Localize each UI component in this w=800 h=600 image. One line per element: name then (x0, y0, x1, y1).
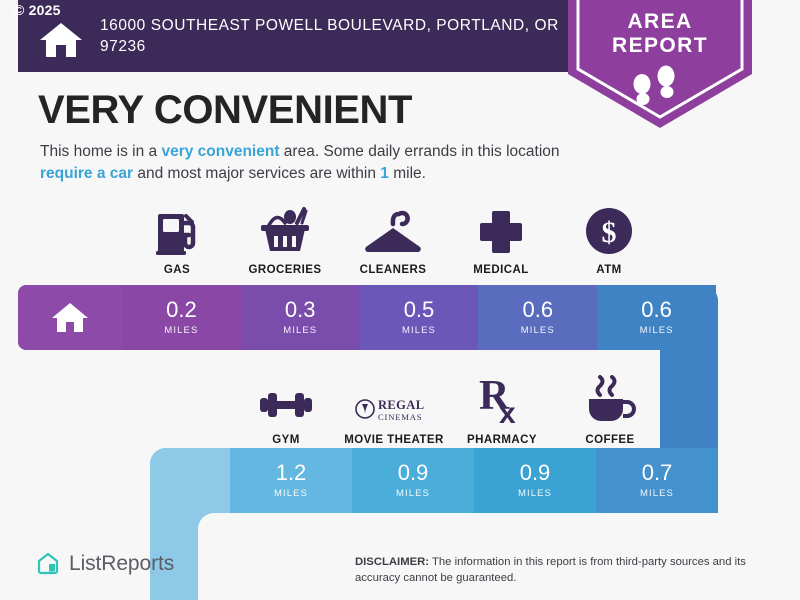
distance-unit: MILES (274, 488, 308, 499)
svg-text:x: x (499, 397, 516, 425)
home-origin-cell (18, 285, 122, 350)
icon-cell-groceries: GROCERIES (231, 205, 339, 276)
rx-icon: R x (477, 375, 527, 425)
desc-highlight-1: very convenient (161, 143, 279, 160)
distance-bar-row-2: 1.2 MILES 0.9 MILES 0.9 MILES 0.7 MILES (150, 448, 718, 513)
distance-cell-pharmacy: 0.9 MILES (474, 448, 596, 513)
svg-text:CINEMAS: CINEMAS (378, 412, 422, 422)
desc-part-3: and most major services are within (133, 165, 380, 182)
listreports-wordmark: ListReports (69, 552, 174, 576)
property-address: 16000 SOUTHEAST POWELL BOULEVARD, PORTLA… (100, 15, 560, 58)
desc-highlight-3: 1 (380, 165, 389, 182)
distance-cell-coffee: 0.7 MILES (596, 448, 718, 513)
listreports-logo[interactable]: ListReports (36, 551, 174, 577)
gas-pump-icon (155, 205, 199, 255)
desc-part-2: area. Some daily errands in this locatio… (280, 143, 560, 160)
distance-unit: MILES (164, 325, 198, 336)
svg-text:REGAL: REGAL (378, 398, 424, 412)
desc-part-4: mile. (389, 165, 426, 182)
distance-value: 0.2 (166, 299, 197, 321)
distance-unit: MILES (283, 325, 317, 336)
distance-cell-movie-theater: 0.9 MILES (352, 448, 474, 513)
svg-text:$: $ (602, 216, 617, 249)
disclaimer: DISCLAIMER: The information in this repo… (355, 554, 785, 586)
desc-part-1: This home is in a (40, 143, 161, 160)
area-report-badge: AREA REPORT (562, 0, 758, 134)
disclaimer-label: DISCLAIMER: (355, 556, 429, 568)
icon-label: GAS (164, 264, 190, 276)
distance-cell-atm: 0.6 MILES (597, 285, 716, 350)
page-title: VERY CONVENIENT (38, 88, 412, 133)
icon-label: ATM (596, 264, 621, 276)
icon-label: GROCERIES (248, 264, 321, 276)
description-text: This home is in a very convenient area. … (40, 141, 565, 186)
icon-label: CLEANERS (360, 264, 427, 276)
distance-unit: MILES (402, 325, 436, 336)
bar-row-2-lead-segment (150, 448, 230, 513)
distance-cell-gym: 1.2 MILES (230, 448, 352, 513)
icon-cell-atm: $ ATM (555, 205, 663, 276)
distance-unit: MILES (396, 488, 430, 499)
dumbbell-icon (255, 375, 317, 425)
distance-cell-groceries: 0.3 MILES (241, 285, 360, 350)
distance-value: 1.2 (276, 462, 307, 484)
distance-cell-medical: 0.6 MILES (478, 285, 597, 350)
distance-cell-gas: 0.2 MILES (122, 285, 241, 350)
icon-cell-medical: MEDICAL (447, 205, 555, 276)
distance-unit: MILES (640, 488, 674, 499)
distance-value: 0.3 (285, 299, 316, 321)
icon-cell-movie-theater: REGAL CINEMAS MOVIE THEATER (340, 375, 448, 446)
home-icon (50, 301, 90, 335)
home-icon (38, 20, 84, 60)
icon-cell-gas: GAS (123, 205, 231, 276)
icon-cell-gym: GYM (232, 375, 340, 446)
copyright-label: © 2025 (14, 2, 61, 18)
icon-label: GYM (272, 434, 300, 446)
regal-cinemas-logo: REGAL CINEMAS (353, 375, 435, 425)
distance-value: 0.9 (520, 462, 551, 484)
icon-cell-coffee: COFFEE (556, 375, 664, 446)
distance-bar-row-1: 0.2 MILES 0.3 MILES 0.5 MILES 0.6 MILES … (18, 285, 716, 350)
distance-value: 0.7 (642, 462, 673, 484)
hanger-icon (362, 205, 424, 255)
grocery-basket-icon (259, 205, 311, 255)
icon-label: MOVIE THEATER (344, 434, 444, 446)
listreports-house-icon (36, 551, 60, 577)
distance-value: 0.5 (404, 299, 435, 321)
distance-value: 0.9 (398, 462, 429, 484)
icon-cell-cleaners: CLEANERS (339, 205, 447, 276)
distance-value: 0.6 (641, 299, 672, 321)
distance-unit: MILES (518, 488, 552, 499)
distance-cell-cleaners: 0.5 MILES (360, 285, 479, 350)
icon-cell-pharmacy: R x PHARMACY (448, 375, 556, 446)
icon-label: COFFEE (585, 434, 634, 446)
icon-row-primary: GAS GROCERIES CLEANERS (123, 205, 663, 276)
icon-row-secondary: GYM REGAL CINEMAS MOVIE THEATER R x PHAR… (232, 375, 664, 446)
atm-dollar-icon: $ (585, 205, 633, 255)
icon-label: PHARMACY (467, 434, 537, 446)
coffee-cup-icon (583, 375, 637, 425)
distance-unit: MILES (640, 325, 674, 336)
distance-unit: MILES (521, 325, 555, 336)
distance-value: 0.6 (522, 299, 553, 321)
desc-highlight-2: require a car (40, 165, 133, 182)
address-bar: 16000 SOUTHEAST POWELL BOULEVARD, PORTLA… (18, 0, 582, 72)
icon-label: MEDICAL (473, 264, 529, 276)
medical-cross-icon (478, 205, 524, 255)
